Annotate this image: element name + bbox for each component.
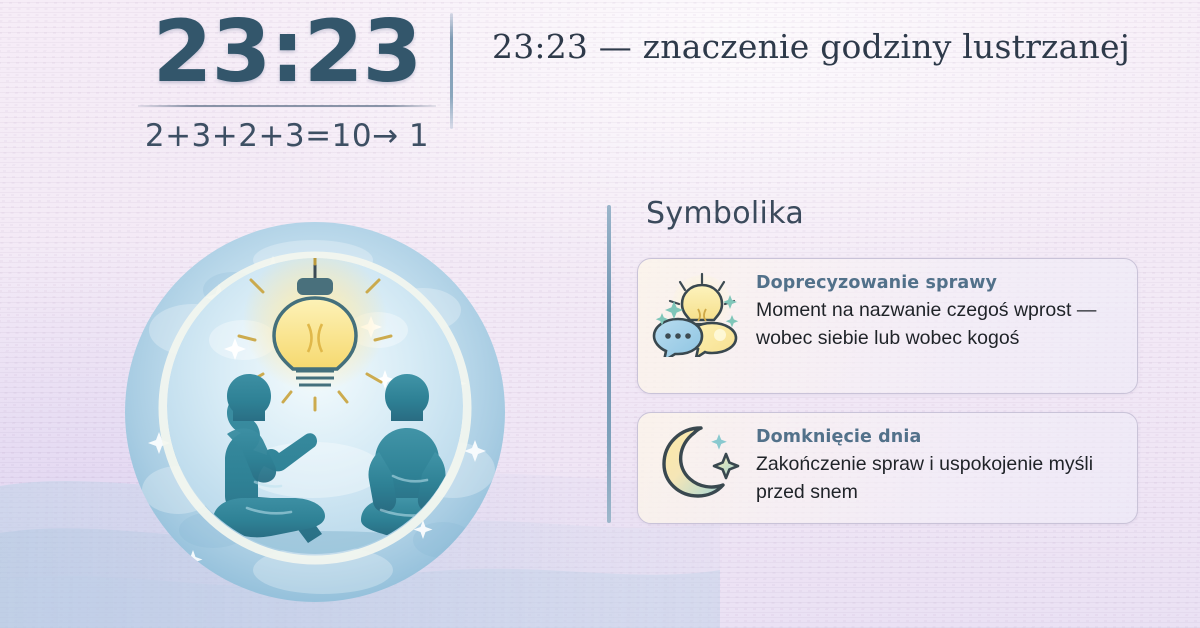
card-body: Domknięcie dnia Zakończenie spraw i uspo…: [756, 425, 1123, 506]
card-text: Zakończenie spraw i uspokojenie myśli pr…: [756, 451, 1123, 506]
card-body: Doprecyzowanie sprawy Moment na nazwanie…: [756, 271, 1123, 352]
card-heading: Domknięcie dnia: [756, 427, 1123, 447]
header: 23:23 2+3+2+3=10→ 1 23:23 — znaczenie go…: [0, 0, 1200, 176]
card-heading: Doprecyzowanie sprawy: [756, 273, 1123, 293]
symbolism-card[interactable]: Doprecyzowanie sprawy Moment na nazwanie…: [637, 258, 1138, 394]
lightbulb-speech-bubbles-icon: [652, 271, 744, 357]
mirror-hour-time: 23:23: [132, 6, 442, 99]
numerology-sum: 2+3+2+3=10→ 1: [132, 118, 442, 154]
symbolism-card[interactable]: Domknięcie dnia Zakończenie spraw i uspo…: [637, 412, 1138, 524]
symbolism-panel: Symbolika: [604, 196, 1164, 536]
header-vertical-divider: [450, 13, 453, 129]
illustration-conversation: [123, 220, 507, 604]
card-text: Moment na nazwanie czegoś wprost — wobec…: [756, 297, 1123, 352]
time-block: 23:23 2+3+2+3=10→ 1: [132, 6, 442, 154]
panel-title: Symbolika: [646, 196, 804, 231]
time-divider-rule: [138, 105, 436, 107]
crescent-moon-stars-icon: [652, 425, 744, 499]
panel-accent-bar: [607, 205, 611, 523]
page-title: 23:23 — znaczenie godziny lustrzanej: [492, 27, 1132, 66]
infographic-canvas: 23:23 2+3+2+3=10→ 1 23:23 — znaczenie go…: [0, 0, 1200, 628]
